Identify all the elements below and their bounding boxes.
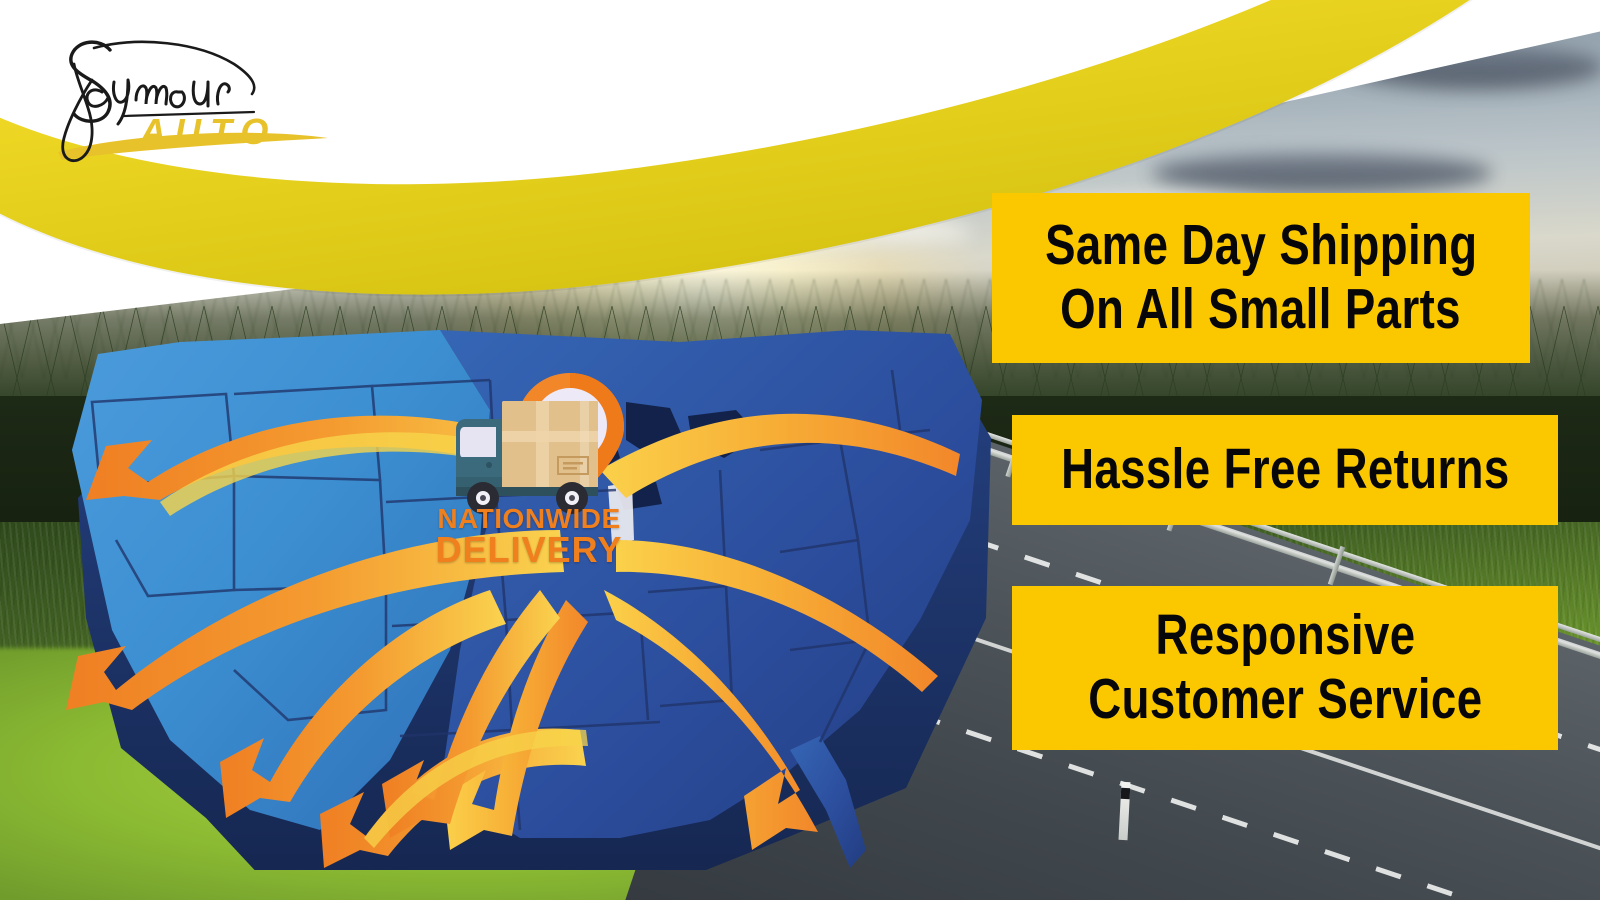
nationwide-delivery-caption: NATIONWIDE DELIVERY bbox=[424, 505, 634, 568]
delivery-truck-icon bbox=[456, 401, 598, 514]
panel-2-line-1: Hassle Free Returns bbox=[1061, 438, 1510, 502]
panel-1-line-1: Same Day Shipping bbox=[1045, 214, 1478, 278]
cloud bbox=[1152, 153, 1492, 193]
svg-text:AUTO: AUTO bbox=[139, 111, 277, 152]
caption-line-1: NATIONWIDE bbox=[424, 505, 634, 532]
panel-3-line-2: Customer Service bbox=[1088, 668, 1482, 732]
feature-panel-hassle-free-returns[interactable]: Hassle Free Returns bbox=[1012, 415, 1558, 525]
promo-banner: NATIONWIDE DELIVERY bbox=[0, 0, 1600, 900]
feature-panel-responsive-customer-service[interactable]: Responsive Customer Service bbox=[1012, 586, 1558, 750]
panel-1-line-2: On All Small Parts bbox=[1061, 278, 1462, 342]
logo-auto-text: AUTO bbox=[139, 111, 277, 152]
caption-line-2: DELIVERY bbox=[424, 532, 634, 567]
feature-panel-same-day-shipping[interactable]: Same Day Shipping On All Small Parts bbox=[992, 193, 1530, 363]
seymour-auto-logo[interactable]: AUTO bbox=[28, 20, 348, 170]
panel-3-line-1: Responsive bbox=[1155, 604, 1415, 668]
